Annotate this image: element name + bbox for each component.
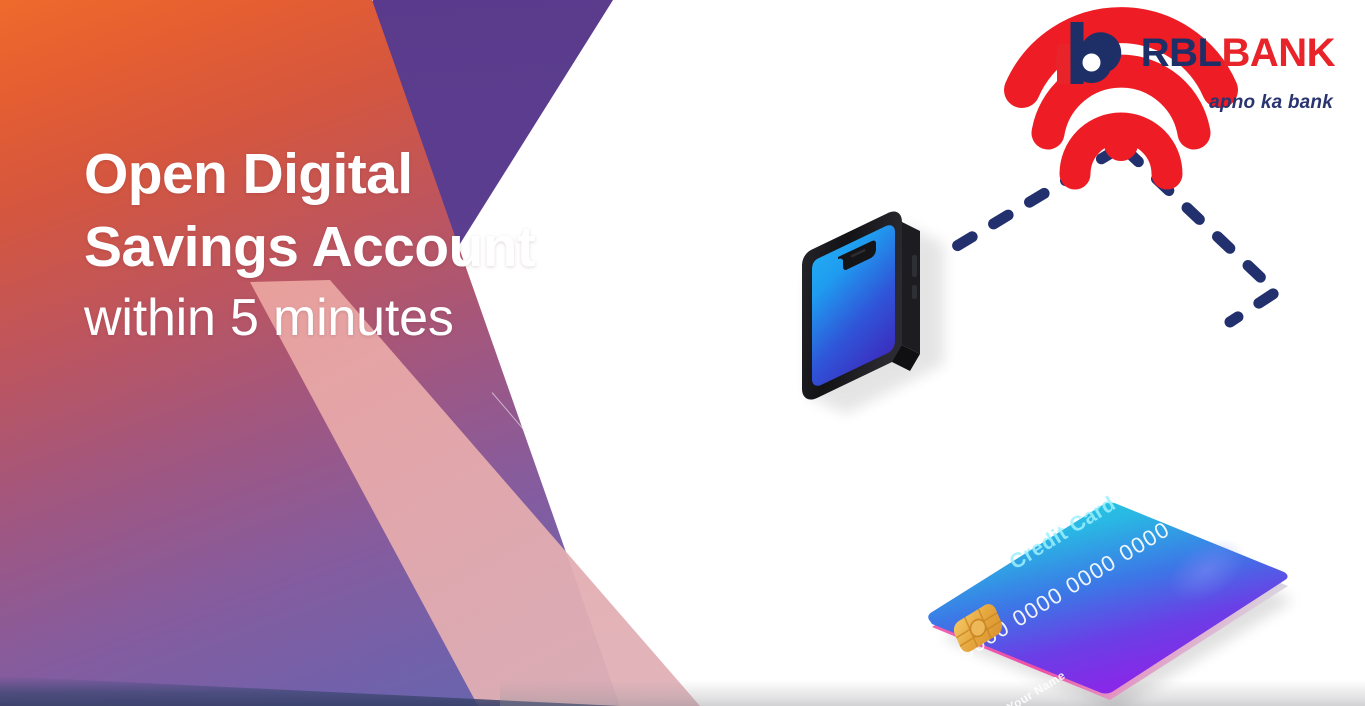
rbl-bank-logo[interactable]: RBLBANK apno ka bank <box>1049 20 1335 114</box>
phone-volume-button <box>912 255 917 277</box>
phone-side-edge <box>902 222 920 354</box>
phone-power-button <box>912 285 917 299</box>
logo-word-rbl: RBL <box>1141 31 1222 75</box>
wifi-dot-icon <box>1104 127 1138 161</box>
smartphone <box>802 211 944 414</box>
dashed-line-to-card <box>1126 150 1276 322</box>
rbl-b-monogram-icon <box>1049 20 1127 86</box>
logo-tagline: apno ka bank <box>1209 92 1333 114</box>
headline-line-3: within 5 minutes <box>84 292 535 344</box>
headline-line-2: Savings Account <box>84 219 535 276</box>
headline-block: Open Digital Savings Account within 5 mi… <box>84 146 535 344</box>
logo-wordmark: RBLBANK <box>1141 33 1335 73</box>
card-face <box>928 503 1287 694</box>
rbl-bank-promo-banner: Open Digital Savings Account within 5 mi… <box>0 0 1365 706</box>
logo-word-bank: BANK <box>1221 31 1335 75</box>
dashed-connector <box>942 150 1276 322</box>
headline-line-1: Open Digital <box>84 146 535 203</box>
background-gradient-panel <box>0 0 800 706</box>
logo-row: RBLBANK <box>1049 20 1335 86</box>
credit-card: Credit Card 0000 0000 0000 0000 Your Nam… <box>928 492 1294 706</box>
